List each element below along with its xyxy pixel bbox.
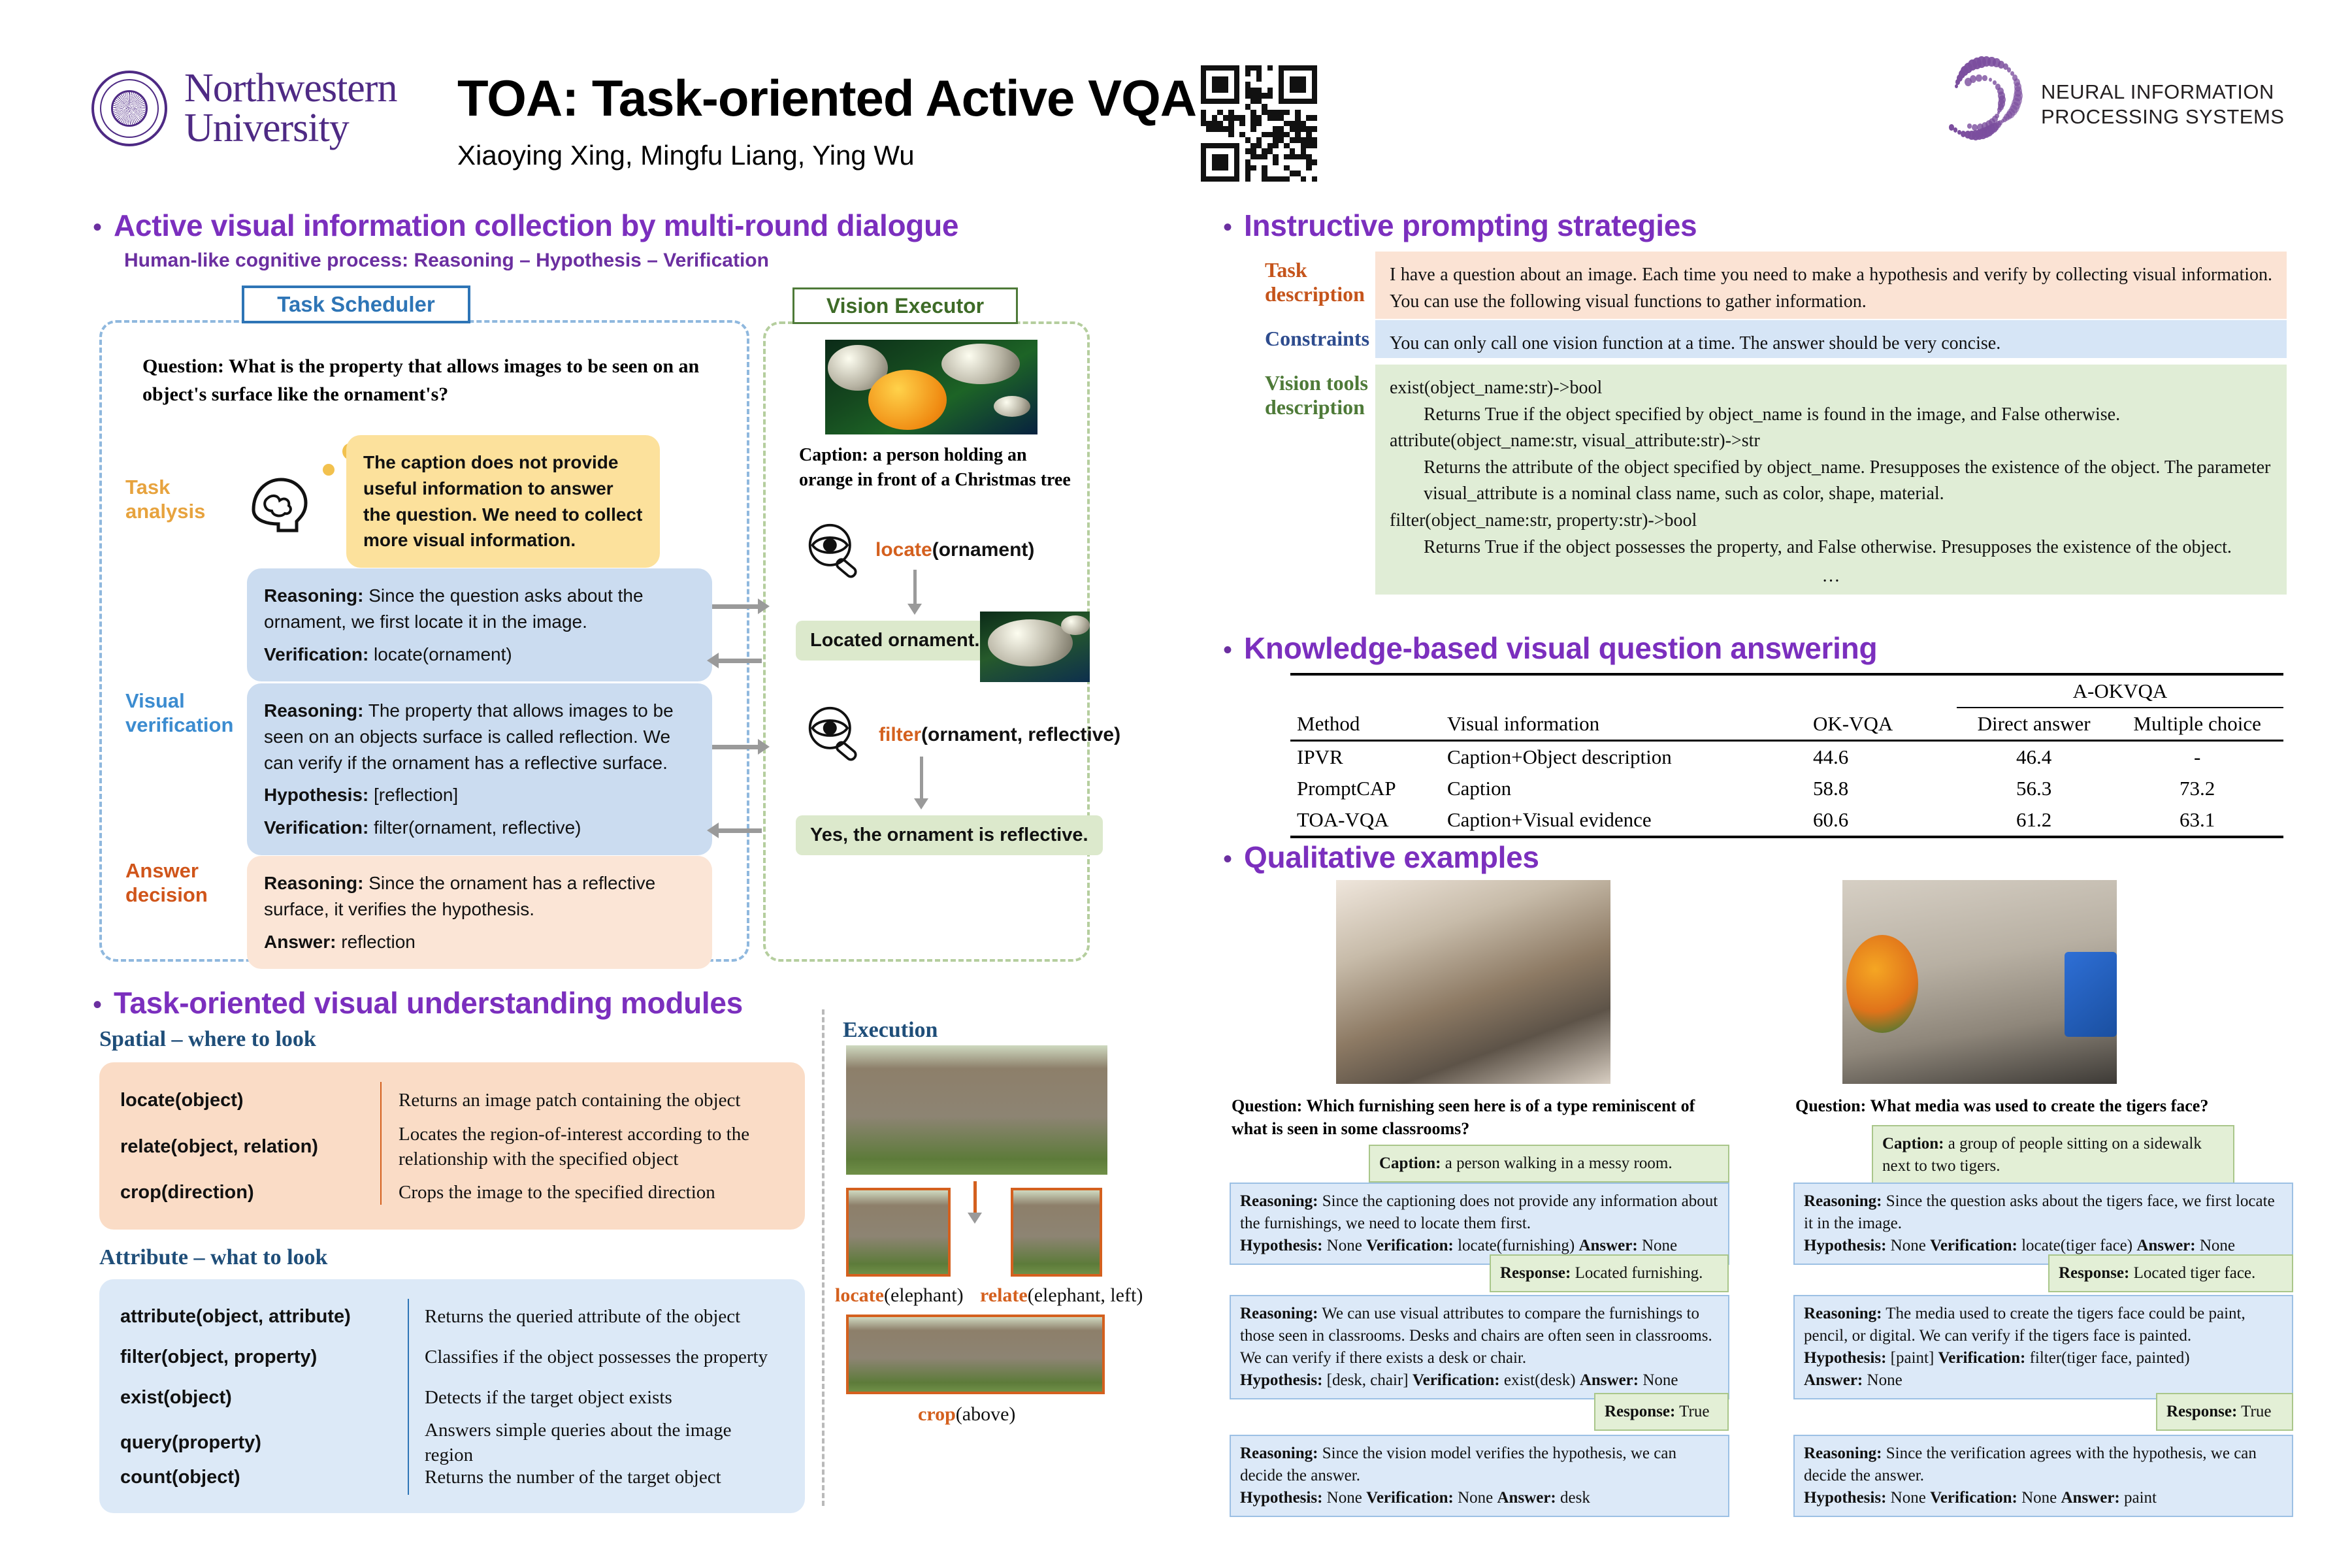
northwestern-seal-icon <box>91 71 167 146</box>
turn-hypothesis: [desk, chair] <box>1327 1371 1409 1389</box>
label-answer: Answer: <box>2136 1237 2195 1254</box>
qualitative-caption-left: Caption: a person walking in a messy roo… <box>1369 1145 1729 1183</box>
magnifier-eye-icon <box>802 523 865 579</box>
answer-bubble-3: Reasoning: Since the ornament has a refl… <box>247 856 712 969</box>
response-label: Response: <box>2059 1264 2129 1282</box>
turn-verification: locate(furnishing) <box>1458 1237 1575 1254</box>
execution-caption-relate: relate(elephant, left) <box>980 1284 1143 1307</box>
col-header-visual-info: Visual information <box>1441 708 1806 741</box>
stage-visual-line1: Visual <box>125 689 233 713</box>
spatial-subhead: Spatial – where to look <box>99 1027 316 1052</box>
blue-mural <box>2065 952 2117 1037</box>
prompt-label-line2: description <box>1265 395 1368 419</box>
cell-direct-answer: 56.3 <box>1957 773 2111 804</box>
prompt-label-constraints: Constraints <box>1265 327 1369 351</box>
cell-okvqa: 58.8 <box>1806 773 1957 804</box>
function-call-locate: locate(ornament) <box>875 539 1034 561</box>
prompt-label-line1: Task <box>1265 258 1365 282</box>
label-hypothesis: Hypothesis: <box>1804 1489 1886 1507</box>
prompt-label-line1: Vision tools <box>1265 371 1368 395</box>
cell-visual-info: Caption+Visual evidence <box>1441 804 1806 837</box>
execution-caption-locate: locate(elephant) <box>835 1284 964 1307</box>
response-label: Response: <box>1605 1403 1675 1420</box>
turn-answer: None <box>1642 1237 1677 1254</box>
section-heading-qualitative: • Qualitative examples <box>1223 840 1539 875</box>
exec-args-relate: (elephant, left) <box>1028 1284 1143 1306</box>
table-bottom-rule <box>1290 837 2283 838</box>
magnifier-eye-icon-2 <box>802 706 865 762</box>
elephant-photo-crop <box>846 1315 1105 1394</box>
label-hypothesis: Hypothesis: <box>1240 1371 1322 1389</box>
turn-verification: None <box>1458 1489 1493 1507</box>
verification-text-2: filter(ornament, reflective) <box>368 817 581 838</box>
qualitative-image-left <box>1336 880 1610 1084</box>
label-verification: Verification: <box>1413 1371 1500 1389</box>
table-row: PromptCAP Caption 58.8 56.3 73.2 <box>1290 773 2283 804</box>
vision-executor-header: Vision Executor <box>792 287 1018 324</box>
tool-desc-1: Returns the attribute of the object spec… <box>1390 455 2272 508</box>
results-table: A-OKVQA Method Visual information OK-VQA… <box>1290 673 2283 838</box>
caption-label-right: Caption: <box>1882 1135 1944 1152</box>
function-args-locate: (ornament) <box>932 539 1035 561</box>
ornament-caption: Caption: a person holding an orange in f… <box>799 443 1077 493</box>
module-name: crop(direction) <box>120 1182 382 1203</box>
function-call-filter: filter(ornament, reflective) <box>879 724 1120 746</box>
section-title-3: Instructive prompting strategies <box>1244 208 1697 243</box>
neurips-swirl-icon <box>1934 46 2032 163</box>
ornament-crop-photo <box>980 612 1090 682</box>
col-header-multiple-choice: Multiple choice <box>2111 708 2283 741</box>
label-reasoning: Reasoning: <box>1240 1305 1318 1322</box>
turn-verification: exist(desk) <box>1504 1371 1576 1389</box>
qualitative-response-left-1: Response: Located furnishing. <box>1490 1254 1729 1292</box>
module-row: locate(object) Returns an image patch co… <box>120 1079 784 1121</box>
execution-arrow-down <box>973 1181 977 1214</box>
stage-visual-line2: verification <box>125 713 233 738</box>
cell-method: IPVR <box>1290 741 1441 774</box>
cell-method: TOA-VQA <box>1290 804 1441 837</box>
prompt-text-vision-tools: exist(object_name:str)->bool Returns Tru… <box>1375 365 2287 595</box>
module-desc: Returns the queried attribute of the obj… <box>408 1304 784 1329</box>
tool-signature-2: filter(object_name:str, property:str)->b… <box>1390 508 2272 534</box>
label-answer: Answer: <box>2061 1489 2119 1507</box>
module-desc: Answers simple queries about the image r… <box>408 1418 784 1468</box>
response-text: Located furnishing. <box>1571 1264 1703 1282</box>
executor-result-2: Yes, the ornament is reflective. <box>796 815 1103 855</box>
qualitative-turn-left-3: Reasoning: Since the vision model verifi… <box>1230 1435 1729 1517</box>
bullet-icon-5: • <box>1223 846 1232 872</box>
verification-label-1: Verification: <box>264 644 368 664</box>
turn-answer: None <box>2200 1237 2235 1254</box>
cell-okvqa: 60.6 <box>1806 804 1957 837</box>
label-answer: Answer: <box>1497 1489 1556 1507</box>
label-hypothesis: Hypothesis: <box>1240 1237 1322 1254</box>
attribute-subhead: Attribute – what to look <box>99 1245 327 1270</box>
section-heading-kbvqa: • Knowledge-based visual question answer… <box>1223 630 1877 666</box>
tool-desc-2: Returns True if the object possesses the… <box>1390 534 2272 561</box>
turn-answer: None <box>1642 1371 1678 1389</box>
cell-direct-answer: 46.4 <box>1957 741 2111 774</box>
reasoning-bubble-1: Reasoning: Since the question asks about… <box>247 568 712 681</box>
neurips-line2: PROCESSING SYSTEMS <box>2041 105 2284 129</box>
col-header-direct-answer: Direct answer <box>1957 708 2111 741</box>
neurips-line1: NEURAL INFORMATION <box>2041 80 2284 105</box>
attribute-modules-card: attribute(object, attribute) Returns the… <box>99 1279 805 1513</box>
bullet-icon-2: • <box>93 992 102 1018</box>
cell-direct-answer: 61.2 <box>1957 804 2111 837</box>
connector-arrow-to-executor-2 <box>712 745 759 749</box>
label-answer: Answer: <box>1580 1371 1639 1389</box>
turn-verification: filter(tiger face, painted) <box>2030 1349 2190 1367</box>
section-title: Active visual information collection by … <box>114 208 958 243</box>
module-name: query(property) <box>120 1432 408 1454</box>
pipeline-question: Question: What is the property that allo… <box>142 353 717 408</box>
label-reasoning: Reasoning: <box>1240 1445 1318 1462</box>
table-row: TOA-VQA Caption+Visual evidence 60.6 61.… <box>1290 804 2283 837</box>
neurips-wordmark: NEURAL INFORMATION PROCESSING SYSTEMS <box>2041 80 2284 129</box>
stage-label-visual-verification: Visual verification <box>125 689 233 737</box>
response-text: True <box>1675 1403 1709 1420</box>
tiger-face-mural <box>1846 935 1918 1033</box>
turn-verification: locate(tiger face) <box>2021 1237 2132 1254</box>
answer-text-3: reflection <box>336 932 415 952</box>
response-text: True <box>2237 1403 2271 1420</box>
exec-args-crop: (above) <box>956 1403 1016 1425</box>
module-row: attribute(object, attribute) Returns the… <box>120 1296 784 1337</box>
reasoning-label-3: Reasoning: <box>264 873 363 893</box>
qualitative-turn-right-2: Reasoning: The media used to create the … <box>1793 1295 2293 1399</box>
task-analysis-bubble: The caption does not provide useful info… <box>346 435 660 568</box>
section-heading-prompting: • Instructive prompting strategies <box>1223 208 1697 243</box>
tool-desc-0: Returns True if the object specified by … <box>1390 402 2272 429</box>
section-title-5: Qualitative examples <box>1244 840 1539 875</box>
caption-text-left: a person walking in a messy room. <box>1441 1154 1672 1172</box>
turn-hypothesis: None <box>1891 1489 1926 1507</box>
tool-signature-1: attribute(object_name:str, visual_attrib… <box>1390 428 2272 455</box>
table-group-header-row: A-OKVQA <box>1290 674 2283 708</box>
label-hypothesis: Hypothesis: <box>1240 1489 1322 1507</box>
stage-label-task-analysis: Task analysis <box>125 476 205 523</box>
module-row: relate(object, relation) Locates the reg… <box>120 1121 784 1172</box>
reasoning-label-1: Reasoning: <box>264 585 363 606</box>
exec-fn-relate: relate <box>980 1284 1028 1306</box>
qualitative-response-right-2: Response: True <box>2156 1393 2293 1431</box>
qualitative-caption-right: Caption: a group of people sitting on a … <box>1872 1125 2234 1185</box>
cell-multiple-choice: - <box>2111 741 2283 774</box>
turn-answer: paint <box>2124 1489 2157 1507</box>
elephant-photo-locate <box>846 1188 951 1277</box>
qr-code-icon[interactable] <box>1201 65 1317 182</box>
label-hypothesis: Hypothesis: <box>1804 1349 1886 1367</box>
label-hypothesis: Hypothesis: <box>1804 1237 1886 1254</box>
turn-hypothesis: [paint] <box>1891 1349 1935 1367</box>
module-name: locate(object) <box>120 1090 382 1111</box>
spatial-modules-card: locate(object) Returns an image patch co… <box>99 1062 805 1230</box>
exec-args-locate: (elephant) <box>884 1284 964 1306</box>
cell-visual-info: Caption+Object description <box>1441 741 1806 774</box>
execution-caption-crop: crop(above) <box>918 1403 1015 1426</box>
label-verification: Verification: <box>1366 1489 1454 1507</box>
response-label: Response: <box>2166 1403 2237 1420</box>
function-name-filter: filter <box>879 724 921 745</box>
qualitative-turn-left-1: Reasoning: Since the captioning does not… <box>1230 1183 1729 1265</box>
elephant-photo-relate <box>1011 1188 1102 1277</box>
response-text: Located tiger face. <box>2129 1264 2255 1282</box>
function-name-locate: locate <box>875 539 932 561</box>
prompt-label-line1: Constraints <box>1265 327 1369 351</box>
section-heading-modules: • Task-oriented visual understanding mod… <box>93 985 743 1021</box>
neurips-logo: NEURAL INFORMATION PROCESSING SYSTEMS <box>1934 46 2284 163</box>
bullet-icon: • <box>93 214 102 240</box>
label-answer: Answer: <box>1578 1237 1637 1254</box>
poster-header: Northwestern University TOA: Task-orient… <box>0 0 2352 196</box>
northwestern-line2: University <box>184 108 397 148</box>
prompt-label-task-description: Task description <box>1265 258 1365 306</box>
col-header-method: Method <box>1290 708 1441 741</box>
cell-visual-info: Caption <box>1441 773 1806 804</box>
label-reasoning: Reasoning: <box>1804 1192 1882 1210</box>
turn-hypothesis: None <box>1891 1237 1926 1254</box>
author-list: Xiaoying Xing, Mingfu Liang, Ying Wu <box>457 140 1196 171</box>
tool-ellipsis: … <box>1390 563 2272 590</box>
bullet-icon-3: • <box>1223 214 1232 240</box>
qualitative-image-right <box>1842 880 2117 1084</box>
stage-answer-line1: Answer <box>125 859 208 883</box>
northwestern-logo: Northwestern University <box>91 69 397 149</box>
hypothesis-label-2: Hypothesis: <box>264 785 368 805</box>
stage-answer-line2: decision <box>125 883 208 907</box>
module-desc: Locates the region-of-interest according… <box>382 1122 784 1172</box>
cell-method: PromptCAP <box>1290 773 1441 804</box>
label-verification: Verification: <box>1938 1349 2026 1367</box>
module-name: relate(object, relation) <box>120 1136 382 1158</box>
module-row: crop(direction) Crops the image to the s… <box>120 1172 784 1213</box>
qualitative-turn-left-2: Reasoning: We can use visual attributes … <box>1230 1295 1729 1399</box>
verification-text-1: locate(ornament) <box>368 644 512 664</box>
poster-root: Northwestern University TOA: Task-orient… <box>0 0 2352 1568</box>
task-scheduler-header: Task Scheduler <box>242 286 470 323</box>
executor-result-1: Located ornament. <box>796 621 994 661</box>
module-name: attribute(object, attribute) <box>120 1306 408 1328</box>
label-verification: Verification: <box>1366 1237 1454 1254</box>
module-name: count(object) <box>120 1467 408 1488</box>
stage-task-line2: analysis <box>125 500 205 524</box>
northwestern-wordmark: Northwestern University <box>184 69 397 149</box>
qualitative-turn-right-3: Reasoning: Since the verification agrees… <box>1793 1435 2293 1517</box>
thought-dot-small <box>323 464 335 476</box>
function-args-filter: (ornament, reflective) <box>921 724 1120 745</box>
cell-okvqa: 44.6 <box>1806 741 1957 774</box>
connector-arrow-to-scheduler-2 <box>717 828 762 833</box>
prompt-text-task-description: I have a question about an image. Each t… <box>1375 252 2287 319</box>
turn-answer: None <box>1867 1371 1903 1389</box>
bullet-icon-4: • <box>1223 637 1232 663</box>
label-verification: Verification: <box>1930 1489 2017 1507</box>
module-row: exist(object) Detects if the target obje… <box>120 1377 784 1418</box>
qualitative-turn-right-1: Reasoning: Since the question asks about… <box>1793 1183 2293 1265</box>
module-desc: Returns an image patch containing the ob… <box>382 1088 784 1113</box>
table-row: IPVR Caption+Object description 44.6 46.… <box>1290 741 2283 774</box>
flow-arrow-down-1 <box>913 570 917 605</box>
module-row: query(property) Answers simple queries a… <box>120 1418 784 1458</box>
caption-label-left: Caption: <box>1379 1154 1441 1172</box>
execution-subhead: Execution <box>843 1018 938 1043</box>
tool-signature-0: exist(object_name:str)->bool <box>1390 375 2272 402</box>
connector-arrow-to-scheduler-1 <box>717 659 762 663</box>
turn-hypothesis: None <box>1327 1489 1362 1507</box>
section-title-2: Task-oriented visual understanding modul… <box>114 985 743 1021</box>
cell-multiple-choice: 63.1 <box>2111 804 2283 837</box>
exec-fn-crop: crop <box>918 1403 956 1425</box>
prompt-label-line2: description <box>1265 282 1365 306</box>
module-row: filter(object, property) Classifies if t… <box>120 1337 784 1377</box>
connector-arrow-to-executor-1 <box>712 604 759 609</box>
section-subtitle-cognitive: Human-like cognitive process: Reasoning … <box>124 250 769 272</box>
cell-multiple-choice: 73.2 <box>2111 773 2283 804</box>
label-reasoning: Reasoning: <box>1240 1192 1318 1210</box>
column-divider <box>822 1009 825 1506</box>
title-block: TOA: Task-oriented Active VQA Xiaoying X… <box>457 69 1196 171</box>
brain-head-icon <box>242 469 314 541</box>
elephant-photo-full <box>846 1045 1107 1175</box>
stage-task-line1: Task <box>125 476 205 500</box>
module-desc: Crops the image to the specified directi… <box>382 1180 784 1205</box>
verification-label-2: Verification: <box>264 817 368 838</box>
group-header-aokvqa: A-OKVQA <box>1957 674 2283 708</box>
turn-hypothesis: None <box>1327 1237 1362 1254</box>
turn-answer: desk <box>1560 1489 1590 1507</box>
label-verification: Verification: <box>1930 1237 2017 1254</box>
section-heading-active-collection: • Active visual information collection b… <box>93 208 958 243</box>
col-header-okvqa: OK-VQA <box>1806 708 1957 741</box>
ornament-photo <box>825 340 1037 434</box>
answer-label-3: Answer: <box>264 932 336 952</box>
module-desc: Classifies if the object possesses the p… <box>408 1345 784 1369</box>
page-title: TOA: Task-oriented Active VQA <box>457 69 1196 128</box>
module-name: exist(object) <box>120 1387 408 1409</box>
response-label: Response: <box>1500 1264 1571 1282</box>
table-header-row: Method Visual information OK-VQA Direct … <box>1290 708 2283 741</box>
qualitative-question-left: Question: Which furnishing seen here is … <box>1232 1095 1728 1141</box>
stage-label-answer-decision: Answer decision <box>125 859 208 907</box>
section-title-4: Knowledge-based visual question answerin… <box>1244 630 1877 666</box>
qualitative-question-right: Question: What media was used to create … <box>1795 1095 2292 1118</box>
module-name: filter(object, property) <box>120 1347 408 1368</box>
label-answer: Answer: <box>1804 1371 1863 1389</box>
qualitative-response-right-1: Response: Located tiger face. <box>2048 1254 2293 1292</box>
exec-fn-locate: locate <box>835 1284 884 1306</box>
prompt-text-constraints: You can only call one vision function at… <box>1375 320 2287 358</box>
module-desc: Returns the number of the target object <box>408 1465 784 1490</box>
hypothesis-text-2: [reflection] <box>368 785 458 805</box>
flow-arrow-down-2 <box>920 757 923 800</box>
prompt-label-vision-tools: Vision tools description <box>1265 371 1368 419</box>
reasoning-bubble-2: Reasoning: The property that allows imag… <box>247 683 712 855</box>
reasoning-label-2: Reasoning: <box>264 700 363 721</box>
turn-verification: None <box>2021 1489 2057 1507</box>
label-reasoning: Reasoning: <box>1804 1445 1882 1462</box>
northwestern-line1: Northwestern <box>184 69 397 108</box>
module-desc: Detects if the target object exists <box>408 1385 784 1410</box>
label-reasoning: Reasoning: <box>1804 1305 1882 1322</box>
qualitative-response-left-2: Response: True <box>1594 1393 1729 1431</box>
